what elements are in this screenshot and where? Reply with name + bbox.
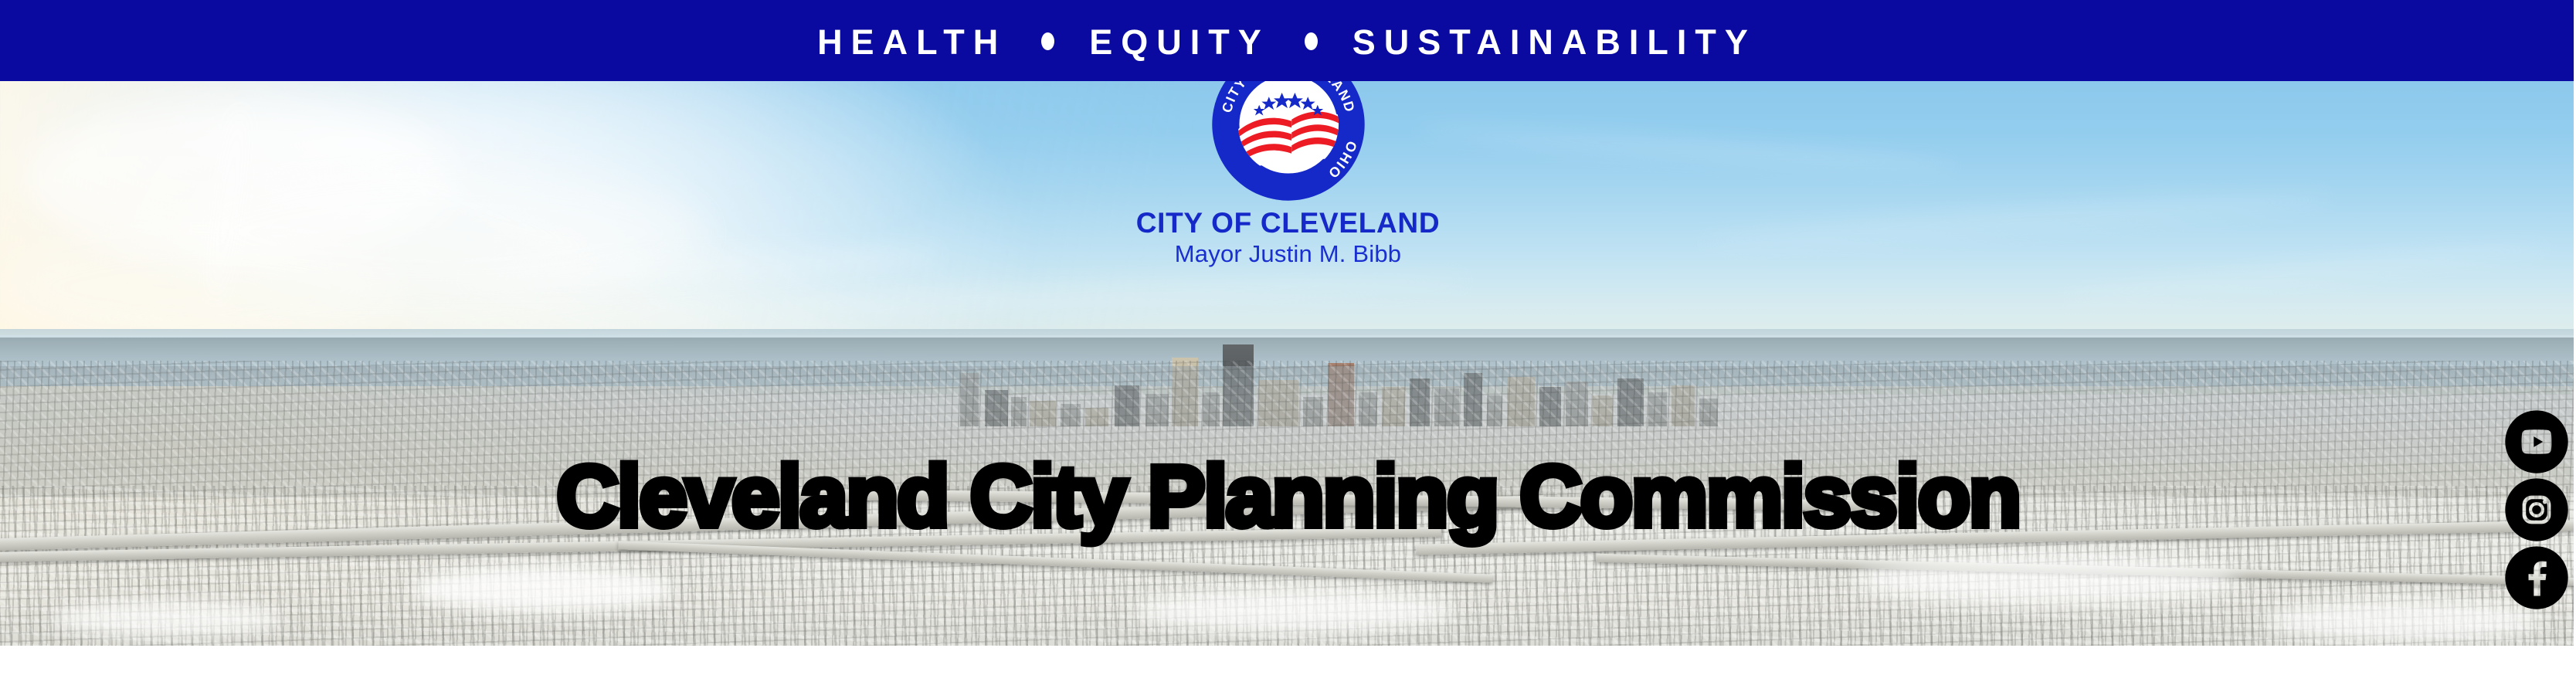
snow-patch	[412, 566, 674, 612]
page-title: Cleveland City Planning Commission	[556, 453, 2019, 540]
tagline-banner: HEALTH EQUITY SUSTAINABILITY	[0, 0, 2574, 81]
mayor-name: Mayor Justin M. Bibb	[1111, 242, 1466, 267]
cloud	[0, 229, 402, 345]
tagline-row: HEALTH EQUITY SUSTAINABILITY	[817, 22, 1756, 59]
snow-patch	[52, 600, 283, 637]
facebook-icon[interactable]	[2504, 545, 2569, 610]
bottom-white-strip	[0, 646, 2576, 682]
org-name: CITY OF CLEVELAND	[1111, 209, 1466, 239]
social-links-rail[interactable]	[2502, 409, 2571, 610]
snow-patch	[1132, 589, 1457, 633]
dot-separator-icon	[1305, 32, 1318, 50]
dot-separator-icon	[1041, 32, 1054, 50]
page-root: HEALTH EQUITY SUSTAINABILITY	[0, 0, 2576, 682]
snow-patch	[1853, 555, 2239, 606]
instagram-icon[interactable]	[2504, 477, 2569, 542]
tagline-word-sustainability: SUSTAINABILITY	[1352, 22, 1756, 59]
youtube-icon[interactable]	[2504, 409, 2569, 474]
tagline-word-health: HEALTH	[817, 22, 1006, 59]
tagline-word-equity: EQUITY	[1089, 22, 1270, 59]
